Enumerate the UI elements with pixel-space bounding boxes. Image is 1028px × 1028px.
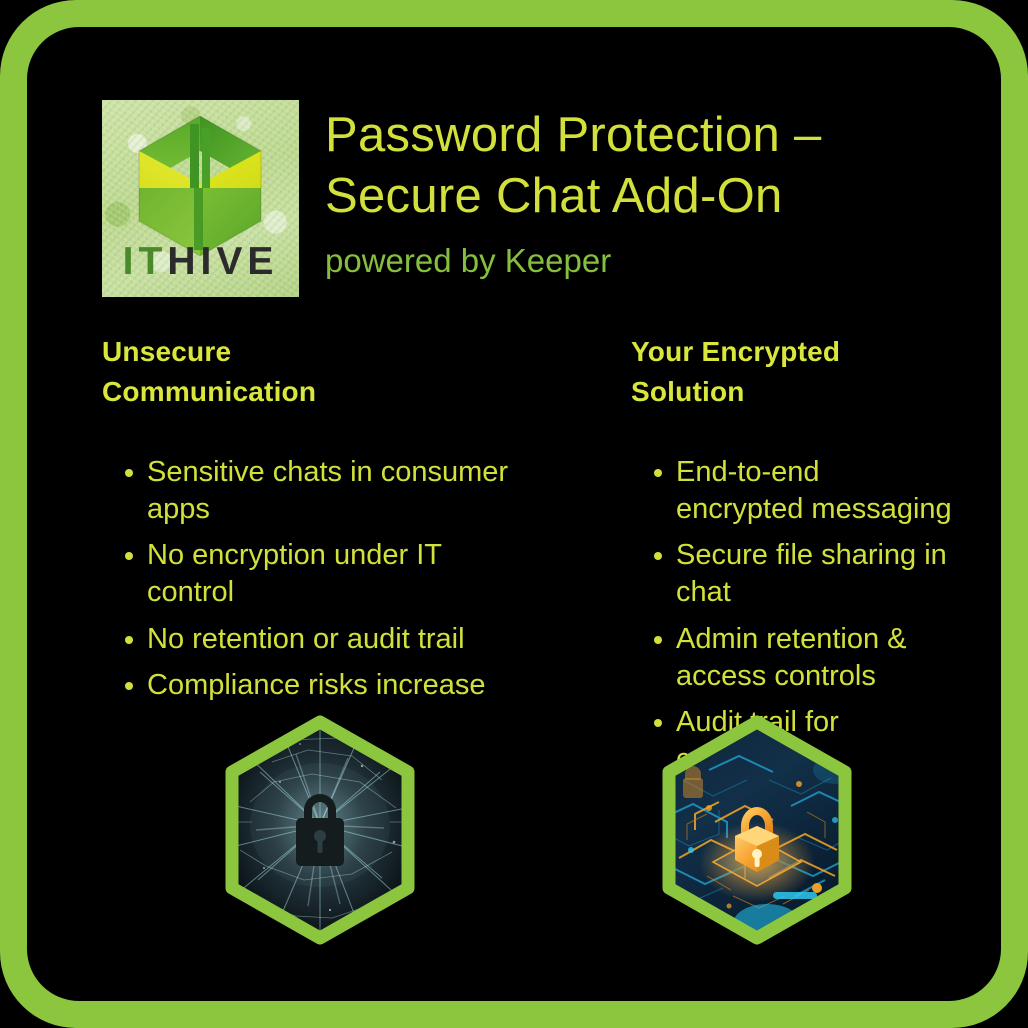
list-item: Admin retention & access controls xyxy=(631,621,952,695)
logo-wordmark-hive: HIVE xyxy=(167,240,278,283)
column-heading-encrypted: Your Encrypted Solution xyxy=(631,332,952,412)
broken-lock-shattered-glass-image xyxy=(212,710,428,950)
list-item: End-to-end encrypted messaging xyxy=(631,454,952,528)
card-inner-surface: ITHIVE Password Protection – Secure Chat… xyxy=(27,27,1001,1001)
promo-card: ITHIVE Password Protection – Secure Chat… xyxy=(0,0,1028,1028)
ithive-logo: ITHIVE xyxy=(102,100,299,297)
logo-wordmark-it: IT xyxy=(123,240,168,283)
bullet-list-unsecure: Sensitive chats in consumer apps No encr… xyxy=(102,454,527,704)
list-item: Secure file sharing in chat xyxy=(631,537,952,611)
logo-wordmark: ITHIVE xyxy=(102,242,299,281)
list-item: Sensitive chats in consumer apps xyxy=(102,454,527,528)
page-title: Password Protection – Secure Chat Add-On xyxy=(325,105,822,227)
list-item: Compliance risks increase xyxy=(102,667,527,704)
page-subtitle: powered by Keeper xyxy=(325,241,822,281)
title-block: Password Protection – Secure Chat Add-On… xyxy=(325,100,822,280)
list-item: No retention or audit trail xyxy=(102,621,527,658)
header: ITHIVE Password Protection – Secure Chat… xyxy=(102,100,822,297)
column-heading-unsecure: Unsecure Communication xyxy=(102,332,527,412)
glowing-lock-circuit-image xyxy=(649,710,865,950)
list-item: No encryption under IT control xyxy=(102,537,527,611)
